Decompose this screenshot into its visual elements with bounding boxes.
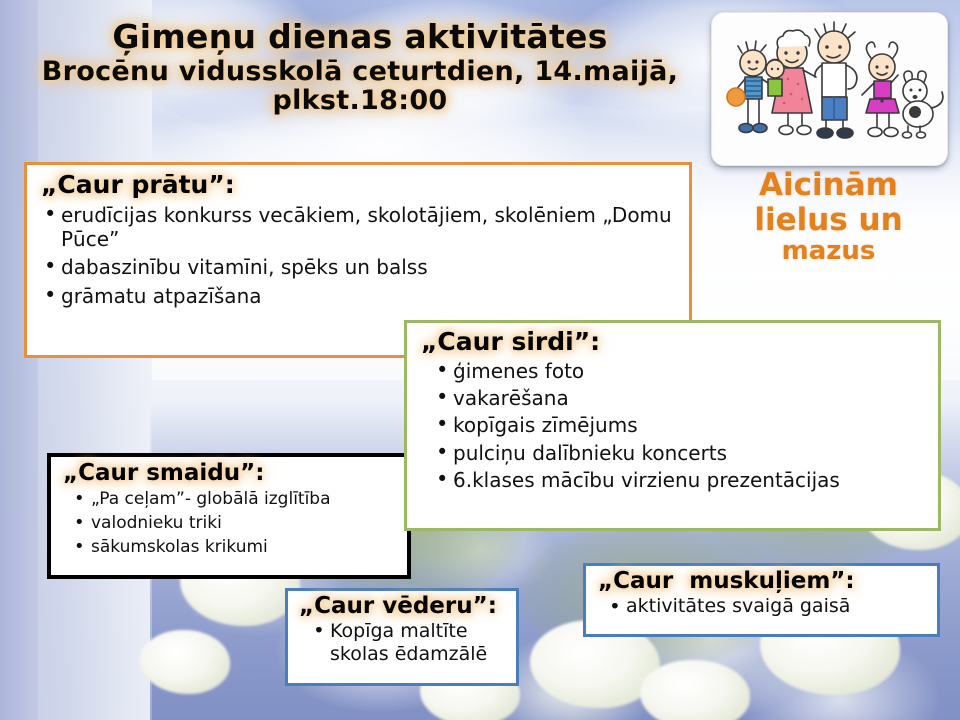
list-item: valodnieku triki [69, 513, 407, 534]
activity-box-vederu: „Caur vēderu”: Kopīga maltīte skolas ēda… [285, 588, 519, 686]
activity-list: erudīcijas konkurss vecākiem, skolotājie… [39, 203, 689, 309]
activity-box-title: „Caur vēderu”: [299, 594, 516, 619]
list-item: ģimenes foto [431, 359, 938, 383]
list-item: aktivitātes svaigā gaisā [604, 595, 937, 618]
poster-title: Ģimeņu dienas aktivitātes Brocēnu viduss… [40, 20, 680, 115]
blossom-shape [140, 630, 230, 694]
activity-list: „Pa ceļam”- globālā izglītība valodnieku… [69, 489, 407, 557]
list-item: „Pa ceļam”- globālā izglītība [69, 489, 407, 510]
activity-box-title: „Caur sirdi”: [421, 328, 938, 356]
family-illustration-card [711, 12, 948, 166]
list-item: vakarēšana [431, 386, 938, 410]
list-item: sākumskolas krikumi [69, 537, 407, 558]
family-drawing-icon [712, 13, 947, 165]
list-item: 6.klases mācību virzienu prezentācijas [431, 468, 938, 492]
activity-box-smaidu: „Caur smaidu”: „Pa ceļam”- globālā izglī… [47, 453, 411, 579]
poster-canvas: Ģimeņu dienas aktivitātes Brocēnu viduss… [0, 0, 960, 720]
activity-list: ģimenes foto vakarēšana kopīgais zīmējum… [431, 359, 938, 493]
activity-list: Kopīga maltīte skolas ēdamzālē [308, 620, 516, 665]
activity-box-title: „Caur prātu”: [41, 171, 689, 199]
list-item: grāmatu atpazīšana [39, 284, 689, 308]
title-line-1: Ģimeņu dienas aktivitātes [40, 20, 680, 55]
background-left-edge [0, 0, 38, 720]
activity-box-title: „Caur muskuļiem”: [598, 569, 937, 594]
list-item: erudīcijas konkurss vecākiem, skolotājie… [39, 203, 689, 252]
invitation-line-3: mazus [706, 237, 951, 266]
title-line-2: Brocēnu vidusskolā ceturtdien, 14.maijā, [40, 58, 680, 86]
list-item: pulciņu dalībnieku koncerts [431, 441, 938, 465]
invitation-line-2: lielus un [706, 203, 951, 238]
list-item: Kopīga maltīte skolas ēdamzālē [308, 620, 516, 665]
activity-list: aktivitātes svaigā gaisā [604, 595, 937, 618]
activity-box-muskuliem: „Caur muskuļiem”: aktivitātes svaigā gai… [583, 563, 940, 637]
invitation-line-1: Aicinām [706, 168, 951, 203]
activity-box-sirdi: „Caur sirdi”: ģimenes foto vakarēšana ko… [404, 320, 941, 531]
invitation-text: Aicinām lielus un mazus [706, 168, 951, 267]
list-item: kopīgais zīmējums [431, 413, 938, 437]
list-item: dabaszinību vitamīni, spēks un balss [39, 255, 689, 279]
title-line-3: plkst.18:00 [40, 87, 680, 115]
activity-box-title: „Caur smaidu”: [63, 461, 407, 486]
